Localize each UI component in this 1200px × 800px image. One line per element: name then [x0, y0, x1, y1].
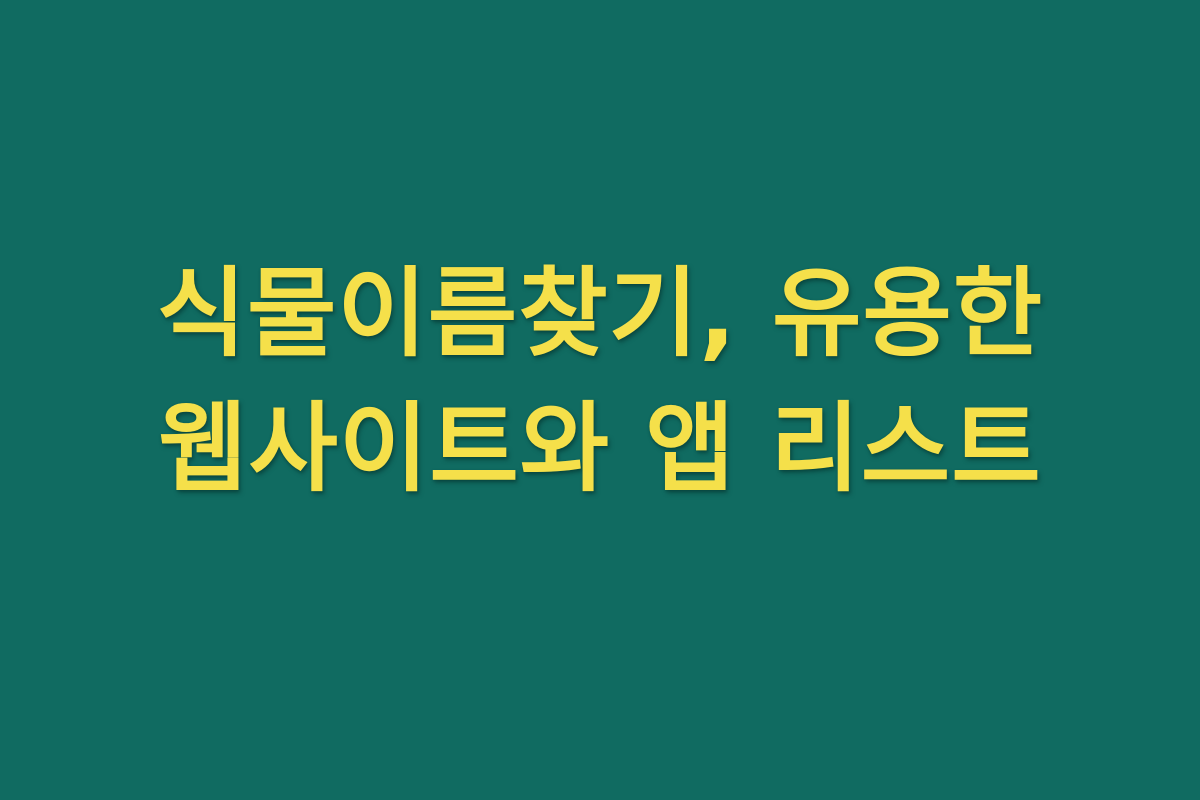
banner-title-line-1: 식물이름찾기, 유용한	[70, 246, 1130, 381]
title-banner: 식물이름찾기, 유용한 웹사이트와 앱 리스트	[0, 0, 1200, 800]
banner-title-line-2: 웹사이트와 앱 리스트	[70, 381, 1130, 516]
banner-title-block: 식물이름찾기, 유용한 웹사이트와 앱 리스트	[70, 246, 1130, 516]
